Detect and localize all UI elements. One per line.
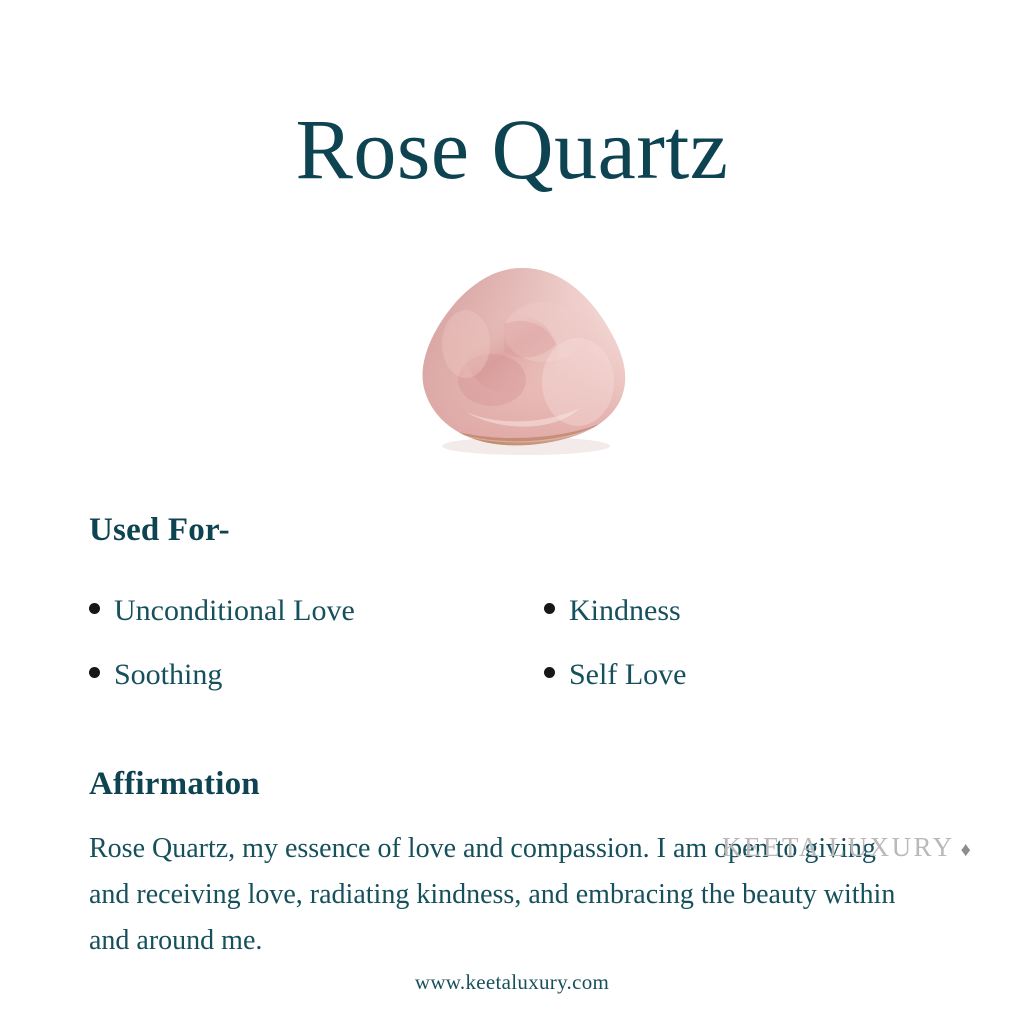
bullet-dot-icon	[544, 603, 555, 614]
rose-quartz-stone-image	[408, 262, 640, 460]
page-title: Rose Quartz	[0, 104, 1024, 194]
bullet-dot-icon	[544, 667, 555, 678]
affirmation-heading: Affirmation	[89, 766, 260, 803]
rose-quartz-stone-icon	[408, 262, 640, 460]
footer-website-url: www.keetaluxury.com	[0, 970, 1024, 995]
affirmation-text: Rose Quartz, my essence of love and comp…	[89, 826, 909, 964]
used-for-heading: Used For-	[89, 512, 230, 549]
crystal-info-card: Rose Quartz	[0, 0, 1024, 1024]
list-item-label: Soothing	[114, 660, 222, 690]
used-for-list: Unconditional Love Kindness Soothing Sel…	[89, 596, 949, 724]
bullet-dot-icon	[89, 667, 100, 678]
list-item: Self Love	[544, 660, 949, 690]
diamond-icon: ♦	[961, 839, 974, 861]
list-item-label: Kindness	[569, 596, 681, 626]
list-item-label: Unconditional Love	[114, 596, 355, 626]
list-item: Soothing	[89, 660, 544, 690]
bullet-dot-icon	[89, 603, 100, 614]
list-item-label: Self Love	[569, 660, 686, 690]
list-item: Kindness	[544, 596, 949, 626]
list-item: Unconditional Love	[89, 596, 544, 626]
